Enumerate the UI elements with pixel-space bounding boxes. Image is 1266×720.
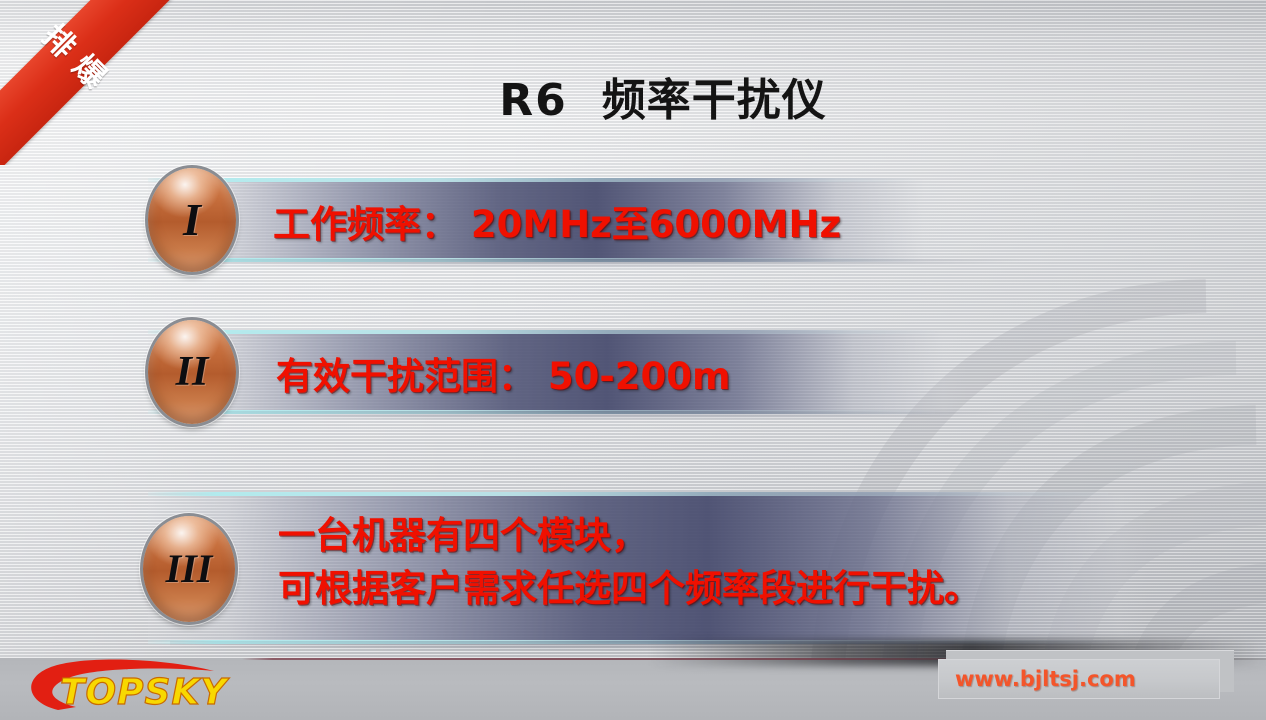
url-plate-front: www.bjltsj.com — [938, 659, 1220, 699]
slide-canvas: 排爆 R6频率干扰仪 I 工作频率： 20MHz至6000MHz II 有效干扰… — [0, 0, 1266, 720]
page-title: R6频率干扰仪 — [0, 64, 1266, 128]
numeral-badge-label-3: III — [166, 549, 213, 589]
bullet-text-1: 工作频率： 20MHz至6000MHz — [273, 194, 841, 248]
bullet-row-3: III 一台机器有四个模块， 可根据客户需求任选四个频率段进行干扰。 — [148, 492, 1266, 644]
title-code: R6 — [499, 75, 568, 126]
bullet-row-2: II 有效干扰范围： 50-200m — [148, 330, 1148, 414]
bullet-text-2: 有效干扰范围： 50-200m — [276, 346, 731, 400]
numeral-badge-2: II — [148, 320, 236, 424]
bullet-text-3-line-1: 一台机器有四个模块， — [278, 510, 981, 563]
website-url[interactable]: www.bjltsj.com — [955, 667, 1136, 691]
numeral-badge-label-2: II — [176, 351, 209, 393]
numeral-badge-3: III — [143, 516, 235, 622]
bullet-text-3-line-2: 可根据客户需求任选四个频率段进行干扰。 — [278, 563, 981, 616]
url-plate[interactable]: www.bjltsj.com — [938, 650, 1238, 702]
logo-wordmark: TOPSKY — [60, 672, 230, 713]
numeral-badge-1: I — [148, 168, 236, 272]
title-name: 频率干扰仪 — [602, 75, 827, 126]
numeral-badge-label-1: I — [183, 197, 201, 243]
bullet-row-1: I 工作频率： 20MHz至6000MHz — [148, 178, 1148, 262]
topsky-logo: TOPSKY — [18, 658, 236, 716]
bullet-text-3: 一台机器有四个模块， 可根据客户需求任选四个频率段进行干扰。 — [278, 510, 981, 615]
